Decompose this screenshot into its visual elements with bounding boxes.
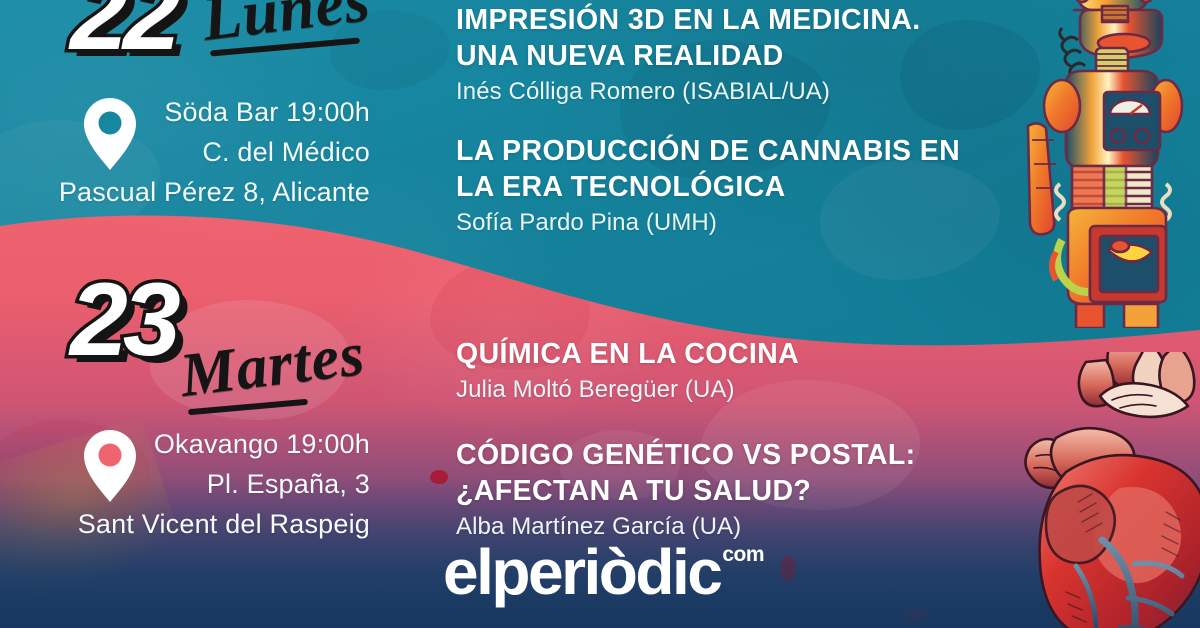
retro-robot-illustration — [1016, 0, 1200, 328]
location-pin-icon — [82, 96, 138, 172]
talk-title: IMPRESIÓN 3D EN LA MEDICINA. UNA NUEVA R… — [456, 2, 1022, 74]
date-block-23: 23 Martes — [70, 272, 176, 368]
talk-author: Inés Cólliga Romero (ISABIAL/UA) — [456, 75, 1022, 109]
talk-title-line: ¿AFECTAN A TU SALUD? — [456, 473, 1022, 509]
talk-title-line: LA ERA TECNOLÓGICA — [456, 169, 1022, 205]
venue-line: Pascual Pérez 8, Alicante — [48, 172, 370, 212]
venue-line: Sant Vicent del Raspeig — [48, 504, 370, 544]
talk-title: LA PRODUCCIÓN DE CANNABIS EN LA ERA TECN… — [456, 133, 1022, 205]
talk-title-line: LA PRODUCCIÓN DE CANNABIS EN — [456, 133, 1022, 169]
location-pin-icon — [82, 428, 138, 504]
anatomical-heart-illustration — [1016, 352, 1200, 628]
talk-title-line: QUÍMICA EN LA COCINA — [456, 336, 1022, 372]
poster-canvas: 22 Lunes Söda Bar 19:00h C. del Médico P… — [0, 0, 1200, 628]
logo-tld: com — [722, 544, 764, 565]
venue-block-day-22: Söda Bar 19:00h C. del Médico Pascual Pé… — [48, 92, 378, 212]
talk-item: CÓDIGO GENÉTICO VS POSTAL: ¿AFECTAN A TU… — [456, 437, 1022, 544]
talk-item: LA PRODUCCIÓN DE CANNABIS EN LA ERA TECN… — [456, 133, 1022, 240]
talk-author: Sofía Pardo Pina (UMH) — [456, 206, 1022, 240]
logo-wordmark: elperiòdic — [443, 540, 720, 604]
talks-list-day-22: IMPRESIÓN 3D EN LA MEDICINA. UNA NUEVA R… — [456, 2, 1022, 254]
talk-title: CÓDIGO GENÉTICO VS POSTAL: ¿AFECTAN A TU… — [456, 437, 1022, 509]
talk-item: IMPRESIÓN 3D EN LA MEDICINA. UNA NUEVA R… — [456, 2, 1022, 109]
talk-title-line: UNA NUEVA REALIDAD — [456, 38, 1022, 74]
venue-block-day-23: Okavango 19:00h Pl. España, 3 Sant Vicen… — [48, 424, 378, 544]
date-number: 22 — [70, 0, 176, 62]
date-number: 23 — [70, 272, 176, 368]
talk-title: QUÍMICA EN LA COCINA — [456, 336, 1022, 372]
talk-title-line: CÓDIGO GENÉTICO VS POSTAL: — [456, 437, 1022, 473]
talk-author: Julia Moltó Beregüer (UA) — [456, 373, 1022, 407]
elperiodic-logo[interactable]: elperiòdic com — [443, 540, 764, 604]
talk-item: QUÍMICA EN LA COCINA Julia Moltó Beregüe… — [456, 336, 1022, 407]
talk-title-line: IMPRESIÓN 3D EN LA MEDICINA. — [456, 2, 1022, 38]
talks-list-day-23: QUÍMICA EN LA COCINA Julia Moltó Beregüe… — [456, 336, 1022, 558]
date-block-22: 22 Lunes — [70, 0, 176, 62]
